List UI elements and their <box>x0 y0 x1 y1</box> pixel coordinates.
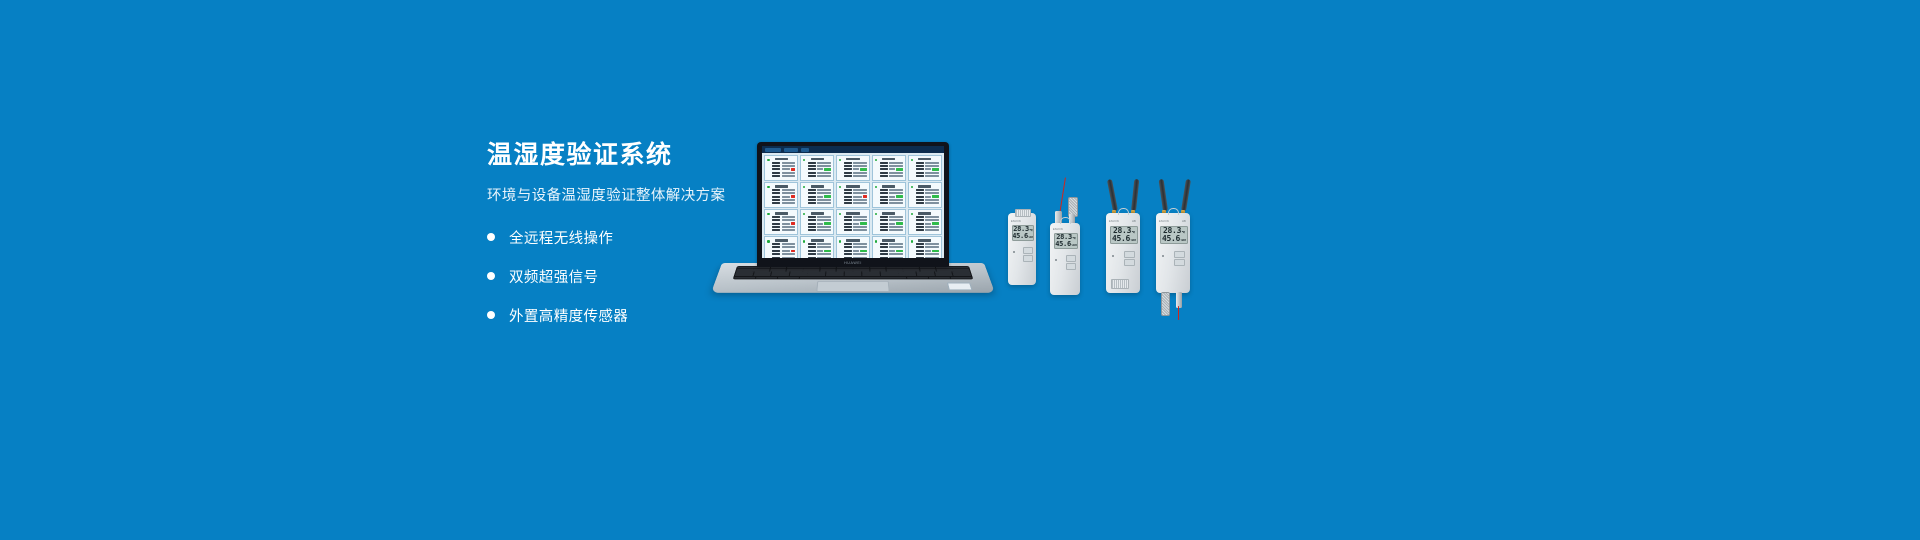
device-button-down[interactable] <box>1174 259 1185 266</box>
cell-row-label <box>772 189 780 191</box>
cell-title <box>882 239 895 241</box>
cell-title <box>775 158 788 160</box>
cell-row-value <box>889 165 903 167</box>
cell-row-label <box>808 199 816 201</box>
cell-row-label <box>844 199 852 201</box>
status-badge-ok <box>860 222 867 225</box>
cell-status-dot-icon <box>875 186 878 189</box>
cell-row-value <box>817 172 831 174</box>
cell-row-label <box>772 246 780 248</box>
key-space <box>800 277 906 279</box>
cell-row-value <box>782 202 796 204</box>
cell-data-row <box>803 172 831 174</box>
cell-data-row <box>875 243 903 245</box>
brand-logo: HUAWEI <box>844 261 862 265</box>
cell-data-row <box>911 226 939 228</box>
cell-data-row <box>839 172 867 174</box>
cell-title <box>846 158 859 160</box>
status-badge-ok <box>824 222 831 225</box>
device-button-up[interactable] <box>1174 251 1185 258</box>
cell-row-label <box>772 243 780 245</box>
cell-row-value <box>889 243 903 245</box>
cell-data-row <box>839 246 867 248</box>
lcd-humidity-line: 45.6 %RH <box>1112 235 1136 243</box>
device-brand-label: ENJON <box>1109 220 1119 223</box>
cell-row-value <box>853 168 858 170</box>
cell-data-row <box>911 195 939 198</box>
cell-status-dot-icon <box>839 186 842 189</box>
cell-row-label <box>916 246 924 248</box>
cell-row-value <box>782 196 790 198</box>
cell-row-label <box>880 250 888 252</box>
monitor-cell[interactable] <box>872 236 906 258</box>
cell-data-row <box>803 250 831 253</box>
device-button-down[interactable] <box>1023 255 1033 262</box>
cell-row-label <box>844 223 852 225</box>
status-badge-ok <box>824 250 831 253</box>
cell-row-value <box>817 216 831 218</box>
monitor-cell[interactable] <box>836 209 870 235</box>
cell-row-value <box>782 175 796 177</box>
cell-title <box>811 158 824 160</box>
cell-data-row <box>911 222 939 225</box>
cell-row-value <box>817 223 822 225</box>
cell-row-label <box>844 172 852 174</box>
cell-title <box>918 158 931 160</box>
device-lcd-display: 28.3 ℃ 45.6 %RH <box>1160 226 1188 244</box>
cell-title <box>882 158 895 160</box>
cell-data-row <box>911 192 939 194</box>
cell-data-row <box>911 250 939 253</box>
cell-data-row <box>767 172 795 174</box>
cell-row-label <box>808 192 816 194</box>
cell-row-label <box>808 216 816 218</box>
lcd-humidity-unit: %RH <box>1131 239 1136 242</box>
cell-data-row <box>875 168 903 171</box>
cell-row-label <box>880 223 888 225</box>
cell-row-value <box>925 189 939 191</box>
laptop-base <box>711 263 995 293</box>
cell-row-label <box>772 226 780 228</box>
status-badge-alarm <box>791 250 795 253</box>
cell-data-row <box>875 226 903 228</box>
cell-status-dot-icon <box>767 213 770 216</box>
hanging-probe-filter-icon <box>1161 292 1170 316</box>
cell-row-value <box>817 250 822 252</box>
cell-row-label <box>844 243 852 245</box>
cell-row-value <box>925 253 939 255</box>
monitor-cell[interactable] <box>908 155 942 181</box>
cell-data-row <box>767 189 795 191</box>
monitor-cell[interactable] <box>908 209 942 235</box>
cell-row-value <box>853 253 867 255</box>
cell-data-row <box>911 219 939 221</box>
cell-row-value <box>782 250 790 252</box>
cell-data-row <box>767 253 795 255</box>
cell-data-row <box>767 222 795 225</box>
cell-row-value <box>925 216 939 218</box>
cell-row-value <box>925 202 939 204</box>
cell-row-value <box>889 168 894 170</box>
cell-data-row <box>875 250 903 253</box>
cell-row-label <box>916 243 924 245</box>
cell-title <box>811 239 824 241</box>
cell-row-label <box>880 199 888 201</box>
monitor-cell[interactable] <box>872 209 906 235</box>
cell-row-value <box>853 246 867 248</box>
lcd-humidity-unit: %RH <box>1181 239 1186 242</box>
laptop-bezel: HUAWEI <box>757 258 949 267</box>
cell-row-label <box>844 192 852 194</box>
cell-status-dot-icon <box>839 240 842 243</box>
cell-row-value <box>925 199 939 201</box>
cell-row-label <box>916 250 924 252</box>
cell-row-value <box>817 175 831 177</box>
cell-data-row <box>803 222 831 225</box>
cell-row-label <box>772 229 780 231</box>
feature-label: 全远程无线操作 <box>509 227 613 248</box>
cell-data-row <box>767 199 795 201</box>
cell-data-row <box>839 189 867 191</box>
cell-row-value <box>782 189 796 191</box>
cell-row-label <box>880 219 888 221</box>
status-badge-ok <box>896 250 903 253</box>
lcd-temperature-unit: ℃ <box>1029 229 1032 232</box>
cell-row-value <box>925 165 939 167</box>
cell-row-label <box>844 216 852 218</box>
laptop-sticker <box>947 283 973 291</box>
cell-row-value <box>925 229 939 231</box>
cell-data-row <box>767 175 795 177</box>
cell-row-label <box>880 226 888 228</box>
cell-row-label <box>808 172 816 174</box>
laptop-screen <box>762 146 944 258</box>
cell-title <box>918 185 931 187</box>
cell-row-value <box>782 216 796 218</box>
cell-data-row <box>803 246 831 248</box>
cell-row-value <box>853 192 867 194</box>
hanger-hook-icon <box>1168 208 1179 215</box>
monitor-cell[interactable] <box>908 236 942 258</box>
cell-row-value <box>925 196 930 198</box>
cell-row-value <box>782 168 790 170</box>
cell-row-value <box>889 189 903 191</box>
cell-row-value <box>817 162 831 164</box>
cell-data-row <box>875 246 903 248</box>
cell-data-row <box>911 162 939 164</box>
cell-row-value <box>853 202 867 204</box>
cell-row-label <box>844 189 852 191</box>
monitor-cell[interactable] <box>836 182 870 208</box>
cell-status-dot-icon <box>875 159 878 162</box>
cell-row-label <box>916 175 924 177</box>
cell-row-label <box>808 165 816 167</box>
cell-status-dot-icon <box>875 213 878 216</box>
cell-row-value <box>925 168 930 170</box>
cell-row-value <box>817 165 831 167</box>
status-badge-ok <box>932 168 939 171</box>
cell-row-label <box>808 162 816 164</box>
monitor-grid <box>762 153 944 258</box>
cell-title <box>775 239 788 241</box>
cell-row-value <box>889 223 894 225</box>
cell-row-value <box>817 192 831 194</box>
cell-data-row <box>911 189 939 191</box>
cell-row-value <box>925 175 939 177</box>
cell-row-label <box>916 172 924 174</box>
cell-row-label <box>844 165 852 167</box>
cell-data-row <box>803 219 831 221</box>
cell-title <box>811 185 824 187</box>
cell-row-value <box>782 165 796 167</box>
cell-row-label <box>844 246 852 248</box>
cell-data-row <box>839 162 867 164</box>
cell-row-value <box>925 223 930 225</box>
cell-row-value <box>889 216 903 218</box>
device-button-up[interactable] <box>1023 247 1033 254</box>
cell-row-value <box>853 165 867 167</box>
cell-row-label <box>772 216 780 218</box>
cell-data-row <box>839 229 867 231</box>
cell-row-label <box>808 229 816 231</box>
status-badge-alarm <box>791 195 795 198</box>
cell-row-label <box>916 162 924 164</box>
device-model-label: HB <box>1132 220 1136 223</box>
cell-data-row <box>767 162 795 164</box>
cell-row-value <box>817 199 831 201</box>
cell-row-label <box>916 253 924 255</box>
cell-row-label <box>916 196 924 198</box>
device-dual-band-logger-a: ENJON HB 28.3 ℃ 45.6 %RH <box>1106 213 1140 293</box>
cell-row-label <box>772 196 780 198</box>
cell-row-label <box>772 199 780 201</box>
cell-data-row <box>767 192 795 194</box>
feature-label: 双频超强信号 <box>509 266 598 287</box>
lcd-humidity-unit: %RH <box>1028 236 1033 239</box>
cell-data-row <box>767 202 795 204</box>
lcd-humidity-unit: %RH <box>1071 244 1076 247</box>
cell-status-dot-icon <box>911 240 914 243</box>
monitor-cell[interactable] <box>836 236 870 258</box>
device-button-down[interactable] <box>1124 259 1135 266</box>
cell-data-row <box>875 216 903 218</box>
device-button-up[interactable] <box>1066 255 1076 262</box>
monitor-cell[interactable] <box>800 236 834 258</box>
cell-row-label <box>880 196 888 198</box>
monitor-cell[interactable] <box>764 155 798 181</box>
monitor-cell[interactable] <box>800 182 834 208</box>
cell-row-label <box>916 165 924 167</box>
cell-data-row <box>875 222 903 225</box>
cell-row-value <box>889 162 903 164</box>
cell-row-label <box>808 175 816 177</box>
lcd-temperature-unit: ℃ <box>1072 237 1075 240</box>
cell-data-row <box>839 250 867 253</box>
status-badge-ok <box>860 250 867 253</box>
device-wireless-logger-internal-sensor: ENJON 28.3 ℃ 45.6 %RH <box>1008 213 1036 285</box>
cell-data-row <box>911 202 939 204</box>
laptop-lid: HUAWEI <box>757 142 949 267</box>
lcd-humidity-value: 45.6 <box>1112 235 1130 243</box>
monitor-cell[interactable] <box>872 155 906 181</box>
cell-row-label <box>808 168 816 170</box>
bullet-dot-icon <box>487 311 495 319</box>
keyboard-row <box>734 277 972 279</box>
cell-row-label <box>880 168 888 170</box>
cell-row-value <box>889 226 903 228</box>
cell-title <box>846 239 859 241</box>
hero-banner: 温湿度验证系统 环境与设备温湿度验证整体解决方案 全远程无线操作 双频超强信号 … <box>0 0 1920 540</box>
cell-data-row <box>839 222 867 225</box>
header-tab[interactable] <box>784 148 798 152</box>
monitor-cell[interactable] <box>800 209 834 235</box>
lcd-humidity-value: 45.6 <box>1012 233 1028 240</box>
cell-row-value <box>853 216 867 218</box>
status-badge-ok <box>932 250 939 253</box>
device-button-down[interactable] <box>1066 263 1076 270</box>
lcd-humidity-line: 45.6 %RH <box>1055 241 1077 248</box>
cell-data-row <box>911 172 939 174</box>
monitor-cell[interactable] <box>764 236 798 258</box>
cell-status-dot-icon <box>767 159 770 162</box>
cell-data-row <box>911 199 939 201</box>
bullet-dot-icon <box>487 233 495 241</box>
cell-row-value <box>889 246 903 248</box>
cell-data-row <box>839 243 867 245</box>
cell-row-value <box>782 223 790 225</box>
cell-row-label <box>844 250 852 252</box>
device-group: ENJON 28.3 ℃ 45.6 %RH <box>1000 175 1240 325</box>
cell-data-row <box>839 165 867 167</box>
cell-data-row <box>803 165 831 167</box>
cell-status-dot-icon <box>803 213 806 216</box>
cell-data-row <box>911 165 939 167</box>
device-button-up[interactable] <box>1124 251 1135 258</box>
cell-status-dot-icon <box>767 186 770 189</box>
cell-data-row <box>803 168 831 171</box>
cell-row-value <box>782 162 796 164</box>
cell-data-row <box>911 229 939 231</box>
cell-row-value <box>817 168 822 170</box>
cell-title <box>882 212 895 214</box>
cell-title <box>846 185 859 187</box>
cell-data-row <box>839 168 867 171</box>
monitor-cell[interactable] <box>908 182 942 208</box>
cell-row-value <box>853 189 867 191</box>
cell-row-value <box>853 199 867 201</box>
monitor-cell[interactable] <box>800 155 834 181</box>
cell-data-row <box>875 195 903 198</box>
status-badge-ok <box>824 195 831 198</box>
cell-data-row <box>803 199 831 201</box>
cell-row-label <box>916 216 924 218</box>
cell-title <box>882 185 895 187</box>
cell-data-row <box>839 175 867 177</box>
status-led-icon <box>1055 259 1057 261</box>
cell-row-label <box>880 229 888 231</box>
cell-row-value <box>817 246 831 248</box>
cell-row-label <box>772 192 780 194</box>
key <box>928 277 950 279</box>
header-tab[interactable] <box>765 148 781 152</box>
cell-data-row <box>767 246 795 248</box>
cell-data-row <box>875 219 903 221</box>
cell-row-value <box>853 219 867 221</box>
cell-data-row <box>911 175 939 177</box>
key <box>950 277 972 279</box>
lcd-temperature-unit: ℃ <box>1132 231 1135 234</box>
status-led-icon <box>1013 251 1015 253</box>
cell-data-row <box>875 192 903 194</box>
cell-status-dot-icon <box>767 240 770 243</box>
cell-row-label <box>916 223 924 225</box>
cell-row-label <box>808 189 816 191</box>
monitor-cell[interactable] <box>872 182 906 208</box>
cell-data-row <box>839 195 867 198</box>
cell-row-value <box>853 226 867 228</box>
cell-data-row <box>803 195 831 198</box>
monitor-cell[interactable] <box>764 209 798 235</box>
cell-data-row <box>767 250 795 253</box>
cell-row-value <box>782 229 796 231</box>
cell-row-label <box>880 246 888 248</box>
cell-data-row <box>767 219 795 221</box>
cell-row-value <box>889 253 903 255</box>
antenna-right-icon <box>1181 179 1190 211</box>
cell-data-row <box>767 229 795 231</box>
header-tab[interactable] <box>801 148 809 152</box>
cell-data-row <box>839 216 867 218</box>
cell-row-value <box>817 226 831 228</box>
cell-data-row <box>839 226 867 228</box>
cell-data-row <box>803 202 831 204</box>
cell-row-value <box>853 196 861 198</box>
cell-row-label <box>880 253 888 255</box>
device-lcd-display: 28.3 ℃ 45.6 %RH <box>1110 226 1138 244</box>
cell-row-label <box>808 243 816 245</box>
monitor-cell[interactable] <box>836 155 870 181</box>
sensor-vent-icon <box>1111 279 1129 289</box>
cell-row-label <box>772 253 780 255</box>
cell-data-row <box>839 219 867 221</box>
cell-row-value <box>853 175 867 177</box>
cell-data-row <box>767 195 795 198</box>
monitor-cell[interactable] <box>764 182 798 208</box>
status-badge-ok <box>896 195 903 198</box>
cell-status-dot-icon <box>875 240 878 243</box>
cell-row-value <box>782 253 796 255</box>
device-lcd-display: 28.3 ℃ 45.6 %RH <box>1012 225 1034 241</box>
cell-row-value <box>782 199 796 201</box>
cell-row-value <box>782 172 796 174</box>
cell-row-value <box>925 219 939 221</box>
key <box>734 277 756 279</box>
cell-row-label <box>916 219 924 221</box>
cell-row-value <box>925 192 939 194</box>
status-led-icon <box>1162 255 1164 257</box>
cell-data-row <box>803 216 831 218</box>
device-dual-band-logger-b: ENJON HB 28.3 ℃ 45.6 %RH <box>1156 213 1190 293</box>
cell-row-label <box>916 189 924 191</box>
cell-row-label <box>808 196 816 198</box>
cell-status-dot-icon <box>803 240 806 243</box>
cell-row-value <box>853 172 867 174</box>
hanger-hook-icon <box>1060 217 1071 224</box>
cell-row-value <box>817 243 831 245</box>
status-badge-alarm <box>863 195 867 198</box>
cell-row-label <box>844 175 852 177</box>
cell-row-label <box>772 168 780 170</box>
